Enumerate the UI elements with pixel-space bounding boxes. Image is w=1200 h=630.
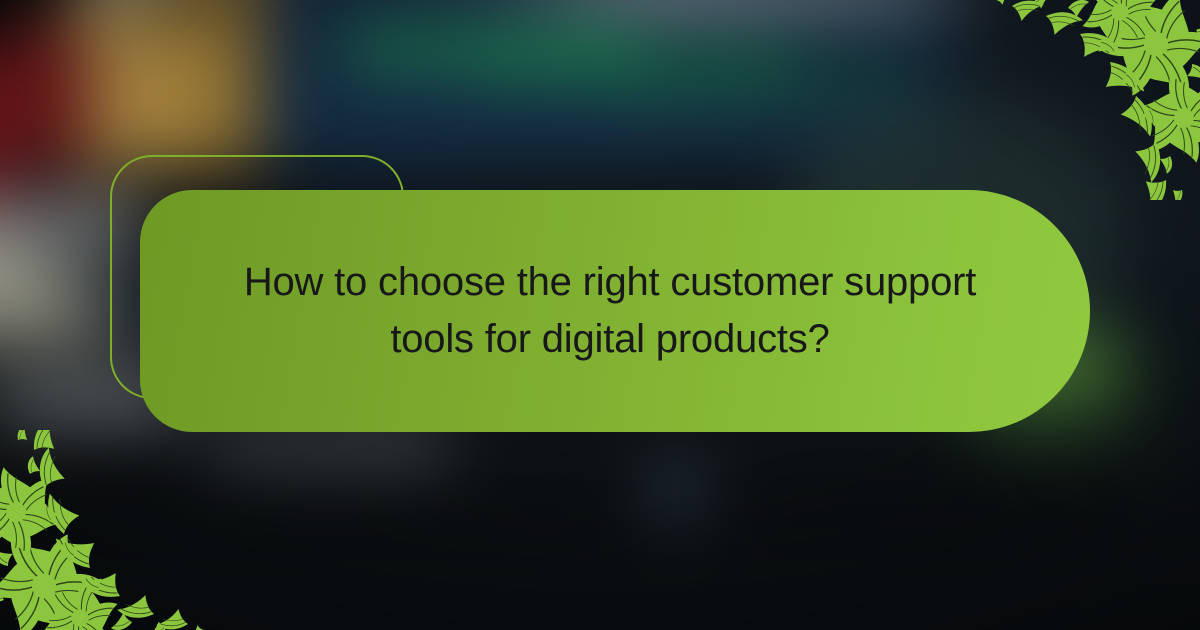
share-card-canvas: How to choose the right customer support…	[0, 0, 1200, 630]
page-title: How to choose the right customer support…	[240, 254, 980, 368]
title-card: How to choose the right customer support…	[140, 190, 1090, 432]
